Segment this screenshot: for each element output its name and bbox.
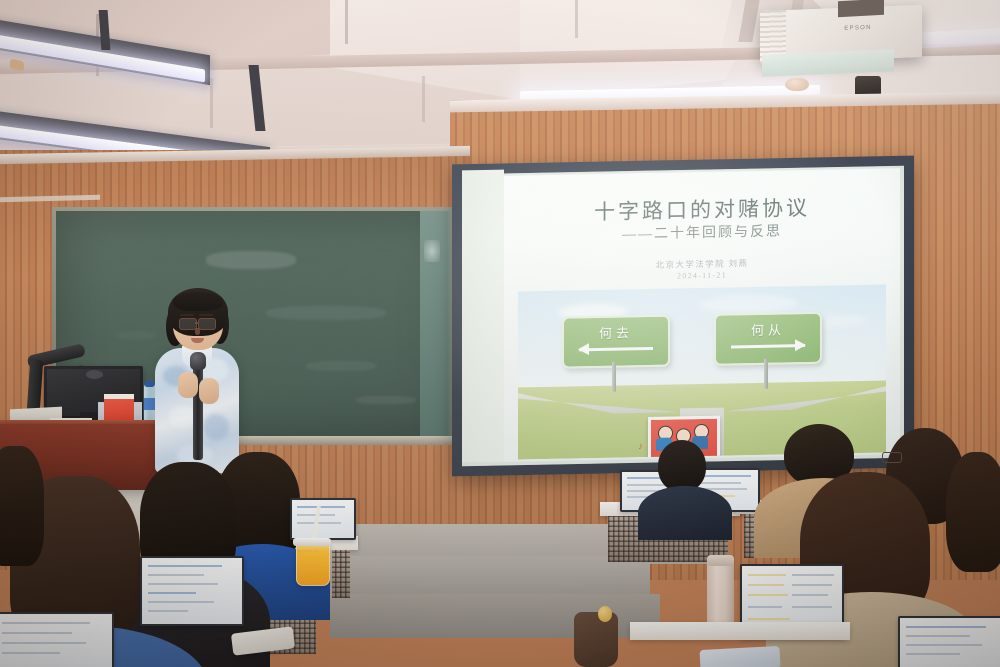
thermos-cap	[707, 555, 734, 566]
head	[658, 440, 706, 492]
handbag	[574, 612, 618, 667]
presenter-eyebrow-left	[180, 314, 194, 316]
eyeglasses-lens-right-icon	[198, 318, 216, 330]
hair	[0, 446, 44, 566]
ceiling-seam	[575, 0, 578, 38]
water-bottle-label	[144, 398, 155, 410]
shoulders	[638, 486, 732, 540]
eyeglasses-lens-left-icon	[179, 318, 197, 330]
laptop-screen[interactable]	[0, 612, 114, 667]
presenter-eyebrow-right	[199, 314, 213, 316]
projector-mount-bracket	[838, 0, 884, 17]
hair	[946, 452, 1000, 572]
presenter-hand-right	[199, 378, 219, 404]
ceiling-seam	[210, 78, 213, 128]
lecture-hall-photo: EPSON 十字路口的对赌协议 ——二十年回顾与反思 北京大学法学院 刘燕 20…	[0, 0, 1000, 667]
smartphone[interactable]	[699, 646, 780, 667]
arrow-left-icon	[579, 347, 654, 351]
road-sign-left: 何去	[562, 315, 670, 369]
projector-brand-label: EPSON	[844, 24, 872, 31]
floor-tier-middle	[330, 556, 650, 596]
cup-lid	[293, 538, 331, 546]
eyeglasses-icon	[882, 452, 902, 463]
eyeglasses-bridge	[195, 322, 198, 324]
projection-screen-margin	[462, 170, 504, 463]
desk-top	[630, 622, 850, 640]
tissue-box	[104, 396, 134, 421]
music-note-icon: ♪	[638, 441, 643, 451]
presenter-fringe	[173, 292, 223, 311]
orange-drink-cup	[296, 542, 330, 586]
ceiling-seam	[422, 76, 425, 122]
bag-charm-icon	[598, 606, 612, 622]
monitor-camera-icon	[86, 370, 103, 379]
chalkboard-glare	[424, 240, 440, 262]
presentation-slide: 十字路口的对赌协议 ——二十年回顾与反思 北京大学法学院 刘燕 2024-11-…	[504, 168, 900, 462]
tissue-sheet	[104, 394, 134, 399]
road-sign-post-left	[612, 362, 616, 392]
road-sign-post-right	[764, 359, 768, 389]
road-sign-left-label: 何去	[564, 322, 668, 343]
microphone-icon	[190, 352, 206, 370]
smoke-detector-icon	[785, 78, 809, 91]
water-bottle-cap	[145, 381, 154, 387]
presenter-nose	[195, 328, 200, 335]
laptop-screen[interactable]	[290, 498, 356, 540]
presenter-hand-left	[178, 372, 198, 398]
ceiling-seam	[345, 0, 348, 44]
road-sign-right-label: 何从	[716, 319, 820, 340]
arrow-right-icon	[731, 344, 806, 348]
laptop-screen[interactable]	[898, 616, 1000, 667]
road-sign-right: 何从	[714, 312, 822, 366]
laptop-screen[interactable]	[140, 556, 244, 626]
